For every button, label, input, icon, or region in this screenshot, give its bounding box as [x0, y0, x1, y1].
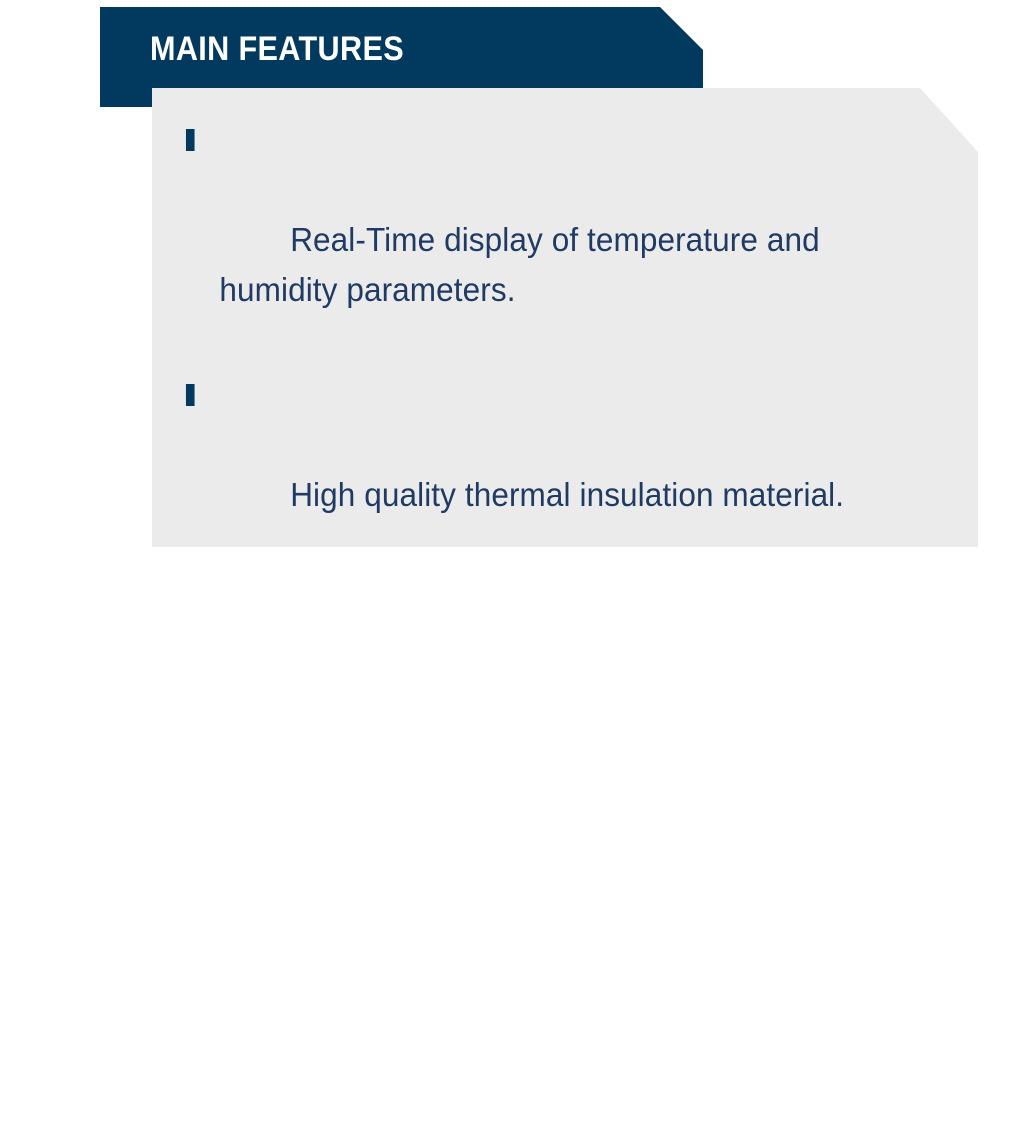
list-item-label: Humidity control from 20% to 95% with ± …: [219, 936, 924, 1073]
square-bullet-icon: [186, 589, 195, 611]
list-item: Humidity control from 20% to 95% with ± …: [185, 830, 923, 1130]
page-title: MAIN FEATURES: [150, 29, 404, 69]
list-item-label: Temperature control from -30 to +70 °C w…: [219, 681, 915, 768]
square-bullet-icon: [186, 384, 195, 406]
feature-list: Real-Time display of temperature and hum…: [185, 115, 958, 1135]
list-item-label: High quality thermal insulation material…: [290, 476, 844, 513]
list-item-label: Real-Time display of temperature and hum…: [219, 221, 828, 308]
square-bullet-icon: [186, 129, 195, 151]
main-features-card: MAIN FEATURES Real-Time display of tempe…: [0, 0, 1024, 581]
list-item: Real-Time display of temperature and hum…: [185, 115, 923, 365]
list-item: Temperature control from -30 to +70 °C w…: [185, 575, 923, 825]
features-panel: Real-Time display of temperature and hum…: [152, 88, 978, 547]
list-item: High quality thermal insulation material…: [185, 370, 923, 570]
square-bullet-icon: [186, 844, 195, 866]
